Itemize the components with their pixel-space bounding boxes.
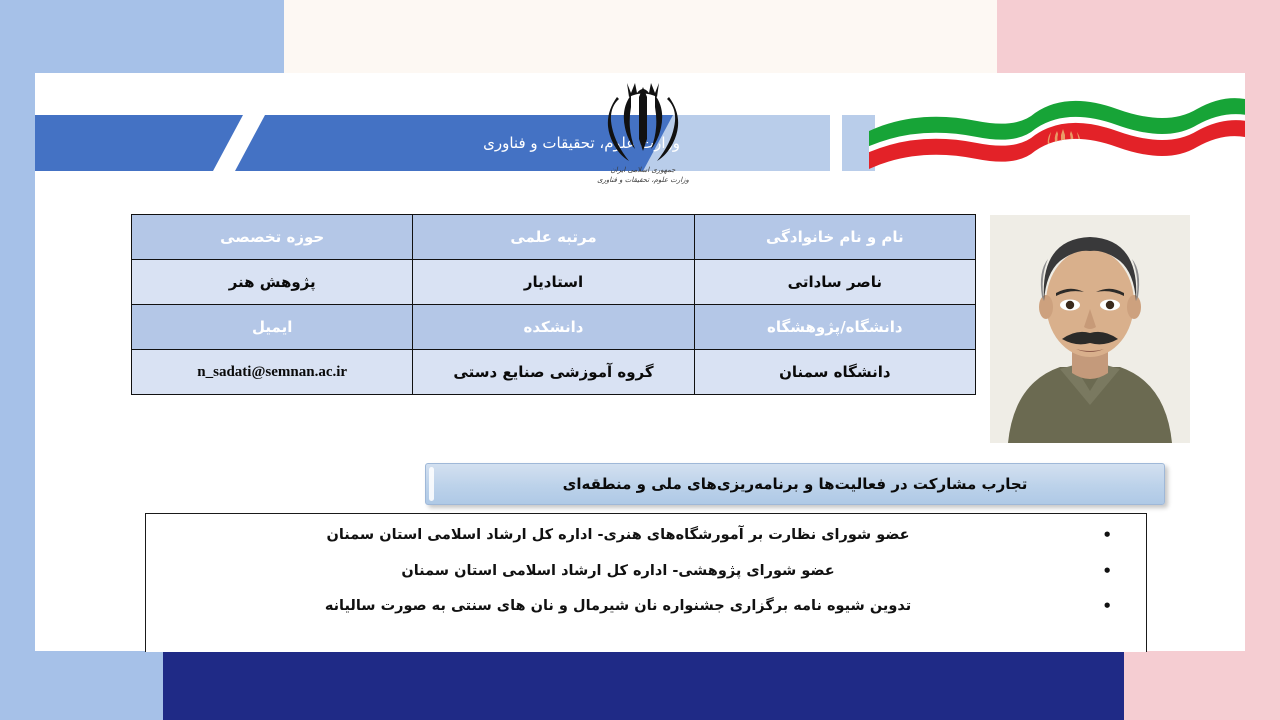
table-value-email: n_sadati@semnan.ac.ir bbox=[132, 350, 413, 395]
list-item: تدوین شیوه نامه برگزاری جشنواره نان شیرم… bbox=[146, 597, 1112, 617]
decoration-strip-left bbox=[0, 73, 35, 651]
banner-band-gap bbox=[830, 115, 842, 171]
experience-bullet-list: عضو شورای نظارت بر آمورشگاه‌های هنری- اد… bbox=[146, 514, 1146, 617]
table-row-header-1: نام و نام خانوادگی مرتبه علمی حوزه تخصصی bbox=[132, 215, 976, 260]
decoration-strip-right bbox=[1245, 73, 1280, 651]
decoration-block-top-left bbox=[0, 0, 284, 73]
table-value-field: پژوهش هنر bbox=[132, 260, 413, 305]
list-item: عضو شورای نظارت بر آمورشگاه‌های هنری- اد… bbox=[146, 526, 1112, 546]
faculty-portrait-photo bbox=[990, 215, 1190, 443]
slide-content-area: وزارت علوم، تحقیقات و فناوری bbox=[35, 73, 1245, 651]
table-value-university: دانشگاه سمنان bbox=[694, 350, 975, 395]
table-header-name: نام و نام خانوادگی bbox=[694, 215, 975, 260]
table-header-faculty: دانشکده bbox=[413, 305, 694, 350]
decoration-block-top-right bbox=[997, 0, 1280, 73]
header-banner: وزارت علوم، تحقیقات و فناوری bbox=[35, 115, 875, 171]
table-header-field: حوزه تخصصی bbox=[132, 215, 413, 260]
iran-flag-ribbon-icon bbox=[867, 85, 1247, 185]
table-value-faculty: گروه آموزشی صنایع دستی bbox=[413, 350, 694, 395]
slide-canvas: وزارت علوم، تحقیقات و فناوری bbox=[0, 0, 1280, 720]
table-row-values-2: دانشگاه سمنان گروه آموزشی صنایع دستی n_s… bbox=[132, 350, 976, 395]
emblem-caption-line1: جمهوری اسلامی ایران bbox=[579, 166, 707, 175]
decoration-block-bottom-left bbox=[0, 651, 163, 720]
table-value-name: ناصر ساداتی bbox=[694, 260, 975, 305]
iran-emblem-icon: جمهوری اسلامی ایران وزارت علوم، تحقیقات … bbox=[579, 81, 707, 196]
list-item: عضو شورای پژوهشی- اداره کل ارشاد اسلامی … bbox=[146, 562, 1112, 582]
decoration-block-bottom-right bbox=[1124, 651, 1280, 720]
faculty-info-table: نام و نام خانوادگی مرتبه علمی حوزه تخصصی… bbox=[131, 214, 976, 395]
experience-list-box: عضو شورای نظارت بر آمورشگاه‌های هنری- اد… bbox=[145, 513, 1147, 652]
table-header-rank: مرتبه علمی bbox=[413, 215, 694, 260]
section-header-bar: تجارب مشارکت در فعالیت‌ها و برنامه‌ریزی‌… bbox=[425, 463, 1165, 505]
decoration-block-bottom-navy bbox=[163, 651, 1124, 720]
table-value-rank: استادیار bbox=[413, 260, 694, 305]
table-header-university: دانشگاه/پژوهشگاه bbox=[694, 305, 975, 350]
section-title: تجارب مشارکت در فعالیت‌ها و برنامه‌ریزی‌… bbox=[563, 475, 1028, 493]
table-header-email: ایمیل bbox=[132, 305, 413, 350]
emblem-caption-line2: وزارت علوم، تحقیقات و فناوری bbox=[579, 176, 707, 185]
table-row-values-1: ناصر ساداتی استادیار پژوهش هنر bbox=[132, 260, 976, 305]
table-row-header-2: دانشگاه/پژوهشگاه دانشکده ایمیل bbox=[132, 305, 976, 350]
